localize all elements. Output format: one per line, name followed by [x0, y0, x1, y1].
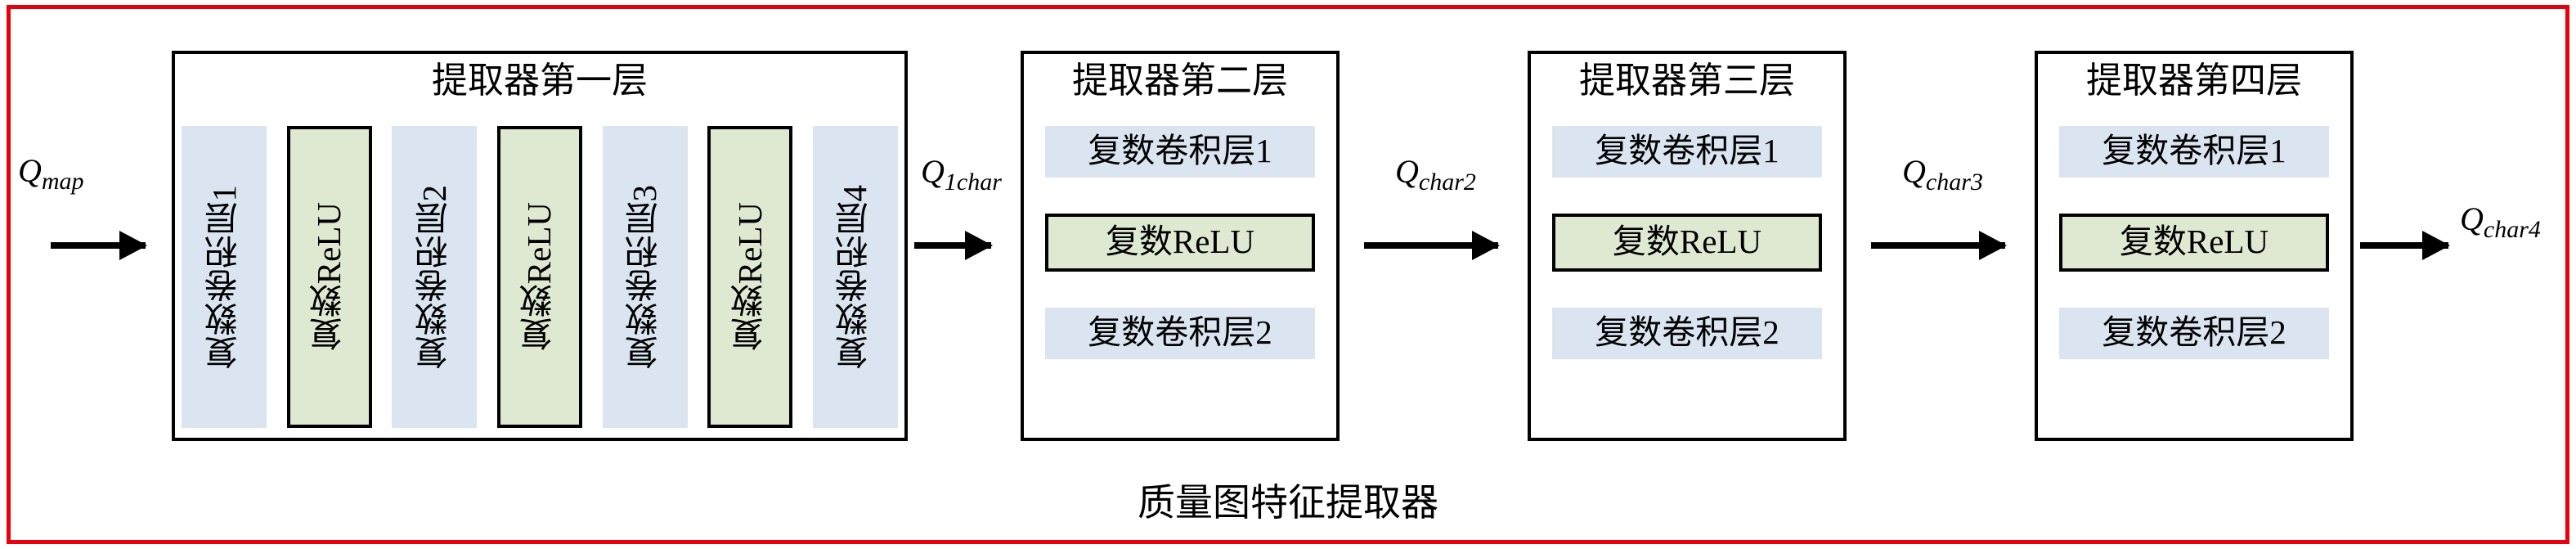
extractor-block-4-title: 提取器第四层 [2038, 62, 2350, 100]
signal-label-stage2: Qchar2 [1395, 152, 1476, 196]
layer-complex-conv-2[interactable]: 复数卷积层2 [392, 126, 477, 428]
figure-caption: 质量图特征提取器 [0, 473, 2576, 527]
layer-complex-conv-4[interactable]: 复数卷积层4 [813, 126, 898, 428]
layer-complex-conv-1[interactable]: 复数卷积层1 [1045, 126, 1315, 178]
layer-complex-conv-2[interactable]: 复数卷积层2 [1552, 308, 1822, 359]
extractor-block-2-title: 提取器第二层 [1024, 62, 1336, 100]
extractor-block-4[interactable]: 提取器第四层 复数卷积层1 复数ReLU 复数卷积层2 [2035, 51, 2354, 441]
signal-sub: char2 [1419, 169, 1476, 196]
layer-complex-conv-2[interactable]: 复数卷积层2 [2059, 308, 2329, 359]
extractor-block-1-title: 提取器第一层 [175, 62, 904, 100]
layer-complex-relu[interactable]: 复数ReLU [1045, 214, 1315, 272]
extractor-block-3-title: 提取器第三层 [1531, 62, 1843, 100]
spacer [1045, 272, 1315, 308]
layer-complex-conv-2[interactable]: 复数卷积层2 [1045, 308, 1315, 359]
signal-sub: char3 [1926, 169, 1983, 196]
signal-base: Q [2460, 200, 2484, 237]
spacer [1045, 178, 1315, 214]
signal-base: Q [1395, 153, 1419, 190]
arrow-block3-to-block4 [1871, 242, 2005, 249]
spacer [1552, 178, 1822, 214]
layer-label: 复数ReLU [312, 202, 346, 351]
layer-complex-conv-1[interactable]: 复数卷积层1 [1552, 126, 1822, 178]
spacer [2059, 272, 2329, 308]
extractor-block-2-stack: 复数卷积层1 复数ReLU 复数卷积层2 [1045, 126, 1315, 423]
arrow-block2-to-block3 [1364, 242, 1498, 249]
layer-complex-relu[interactable]: 复数ReLU [1552, 214, 1822, 272]
layer-complex-relu-3[interactable]: 复数ReLU [707, 126, 792, 428]
extractor-block-2[interactable]: 提取器第二层 复数卷积层1 复数ReLU 复数卷积层2 [1021, 51, 1340, 441]
extractor-block-4-stack: 复数卷积层1 复数ReLU 复数卷积层2 [2059, 126, 2329, 423]
signal-label-input: Qmap [18, 151, 84, 196]
signal-base: Q [18, 152, 42, 189]
layer-complex-relu-1[interactable]: 复数ReLU [287, 126, 372, 428]
layer-label: 复数ReLU [523, 202, 556, 351]
extractor-block-3-stack: 复数卷积层1 复数ReLU 复数卷积层2 [1552, 126, 1822, 423]
signal-sub: 1char [945, 169, 1002, 196]
layer-complex-conv-1[interactable]: 复数卷积层1 [182, 126, 267, 428]
signal-base: Q [921, 153, 945, 190]
arrow-block4-to-output [2360, 242, 2448, 249]
signal-sub: map [42, 168, 84, 195]
layer-label: 复数卷积层1 [208, 185, 241, 370]
layer-complex-conv-1[interactable]: 复数卷积层1 [2059, 126, 2329, 178]
arrow-input-to-block1 [51, 242, 146, 249]
signal-label-output: Qchar4 [2460, 200, 2541, 244]
layer-complex-relu[interactable]: 复数ReLU [2059, 214, 2329, 272]
extractor-block-1-lanes: 复数卷积层1 复数ReLU 复数卷积层2 复数ReLU 复数卷积层3 复数ReL… [175, 126, 904, 428]
layer-label: 复数卷积层2 [418, 185, 451, 370]
layer-label: 复数卷积层4 [838, 185, 872, 370]
spacer [1552, 272, 1822, 308]
extractor-block-1[interactable]: 提取器第一层 复数卷积层1 复数ReLU 复数卷积层2 复数ReLU 复数卷积层… [172, 51, 908, 441]
signal-sub: char4 [2484, 216, 2541, 243]
figure-canvas: Qmap 提取器第一层 复数卷积层1 复数ReLU 复数卷积层2 复数ReLU … [0, 0, 2576, 549]
layer-label: 复数ReLU [734, 202, 767, 351]
layer-complex-relu-2[interactable]: 复数ReLU [497, 126, 582, 428]
spacer [2059, 178, 2329, 214]
layer-complex-conv-3[interactable]: 复数卷积层3 [603, 126, 688, 428]
extractor-block-3[interactable]: 提取器第三层 复数卷积层1 复数ReLU 复数卷积层2 [1528, 51, 1847, 441]
signal-label-stage3: Qchar3 [1902, 152, 1983, 196]
signal-label-stage1: Q1char [921, 152, 1002, 196]
signal-base: Q [1902, 153, 1926, 190]
arrow-block1-to-block2 [914, 242, 991, 249]
layer-label: 复数卷积层3 [628, 185, 662, 370]
